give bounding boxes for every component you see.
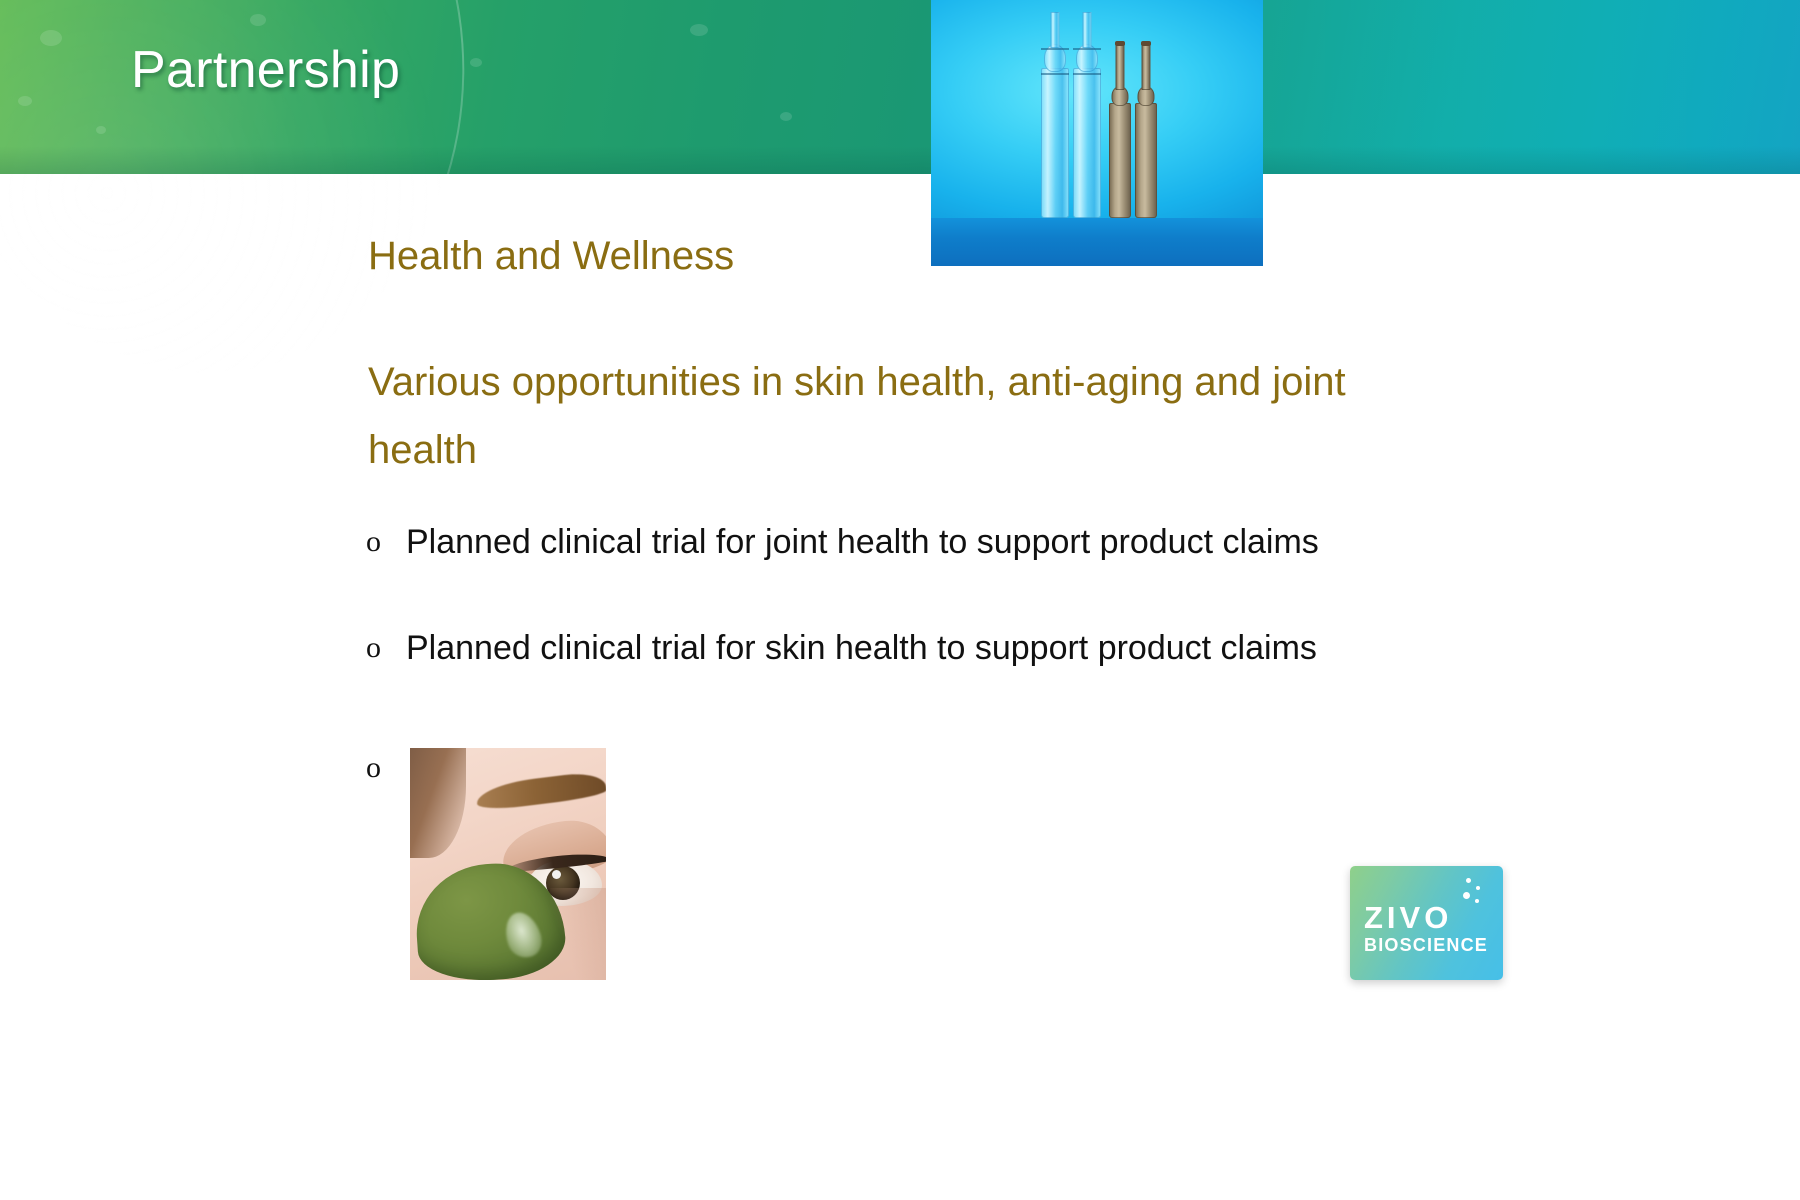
list-item: o Planned clinical trial for joint healt… bbox=[366, 520, 1486, 564]
section-subheading: Health and Wellness bbox=[368, 234, 734, 279]
header-speck bbox=[96, 126, 106, 134]
ampoule-photo bbox=[931, 0, 1263, 266]
ampoule-photo-floor bbox=[931, 218, 1263, 266]
presentation-slide: Partnership bbox=[0, 0, 1800, 1200]
bullet-list: o Planned clinical trial for joint healt… bbox=[366, 520, 1486, 732]
ampoule-clear-2 bbox=[1073, 18, 1101, 218]
zivo-bioscience-logo: ZIVO BIOSCIENCE bbox=[1350, 866, 1503, 980]
header-speck bbox=[690, 24, 708, 36]
eye-photo-eyebrow bbox=[475, 770, 606, 812]
header-speck bbox=[40, 30, 62, 46]
list-item-image: o bbox=[366, 748, 606, 980]
eye-photo-hair bbox=[410, 748, 466, 858]
page-title: Partnership bbox=[131, 40, 400, 100]
header-speck bbox=[470, 58, 482, 67]
eye-photo-glint bbox=[552, 870, 561, 879]
logo-bubble-icon bbox=[1466, 878, 1471, 883]
section-lead-text: Various opportunities in skin health, an… bbox=[368, 348, 1378, 484]
logo-inner: ZIVO BIOSCIENCE bbox=[1350, 866, 1503, 980]
list-item-label: Planned clinical trial for skin health t… bbox=[406, 626, 1317, 670]
ampoule-amber-1 bbox=[1109, 42, 1131, 218]
logo-bubble-icon bbox=[1463, 892, 1470, 899]
eye-photo-cheek-shade bbox=[550, 888, 606, 980]
list-item-label: Planned clinical trial for joint health … bbox=[406, 520, 1319, 564]
bullet-marker-icon: o bbox=[366, 626, 406, 670]
logo-subtitle: BIOSCIENCE bbox=[1364, 936, 1488, 954]
ampoule-clear-1 bbox=[1041, 18, 1069, 218]
header-speck bbox=[18, 96, 32, 106]
bullet-marker-icon: o bbox=[366, 748, 406, 788]
logo-bubble-icon bbox=[1476, 886, 1480, 890]
header-speck bbox=[250, 14, 266, 26]
ampoule-amber-2 bbox=[1135, 42, 1157, 218]
logo-wordmark: ZIVO bbox=[1364, 902, 1452, 933]
header-speck bbox=[780, 112, 792, 121]
list-item: o Planned clinical trial for skin health… bbox=[366, 626, 1486, 670]
logo-bubble-icon bbox=[1475, 899, 1479, 903]
bullet-marker-icon: o bbox=[366, 520, 406, 564]
header-bottom-shade bbox=[0, 146, 1800, 174]
eye-patch-photo bbox=[410, 748, 606, 980]
